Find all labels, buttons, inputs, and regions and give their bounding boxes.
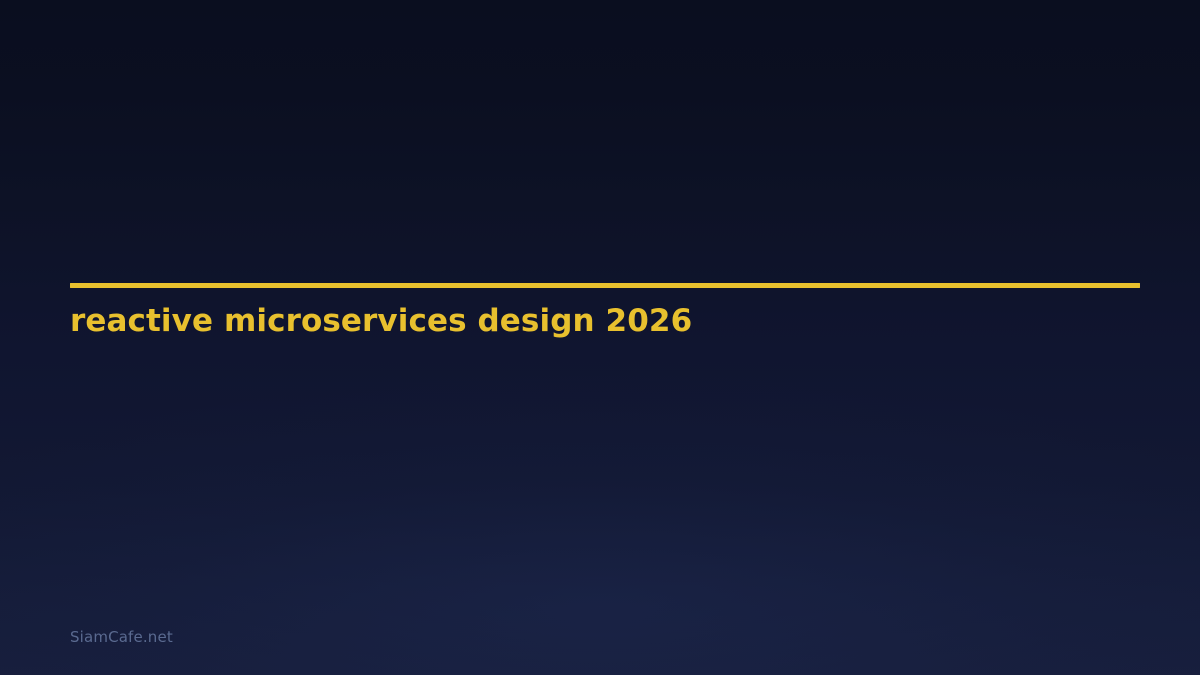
- slide-title: reactive microservices design 2026: [70, 288, 1140, 340]
- slide-header-block: reactive microservices design 2026: [70, 283, 1140, 340]
- presentation-slide: reactive microservices design 2026 SiamC…: [0, 0, 1200, 675]
- footer-site-label: SiamCafe.net: [70, 630, 173, 645]
